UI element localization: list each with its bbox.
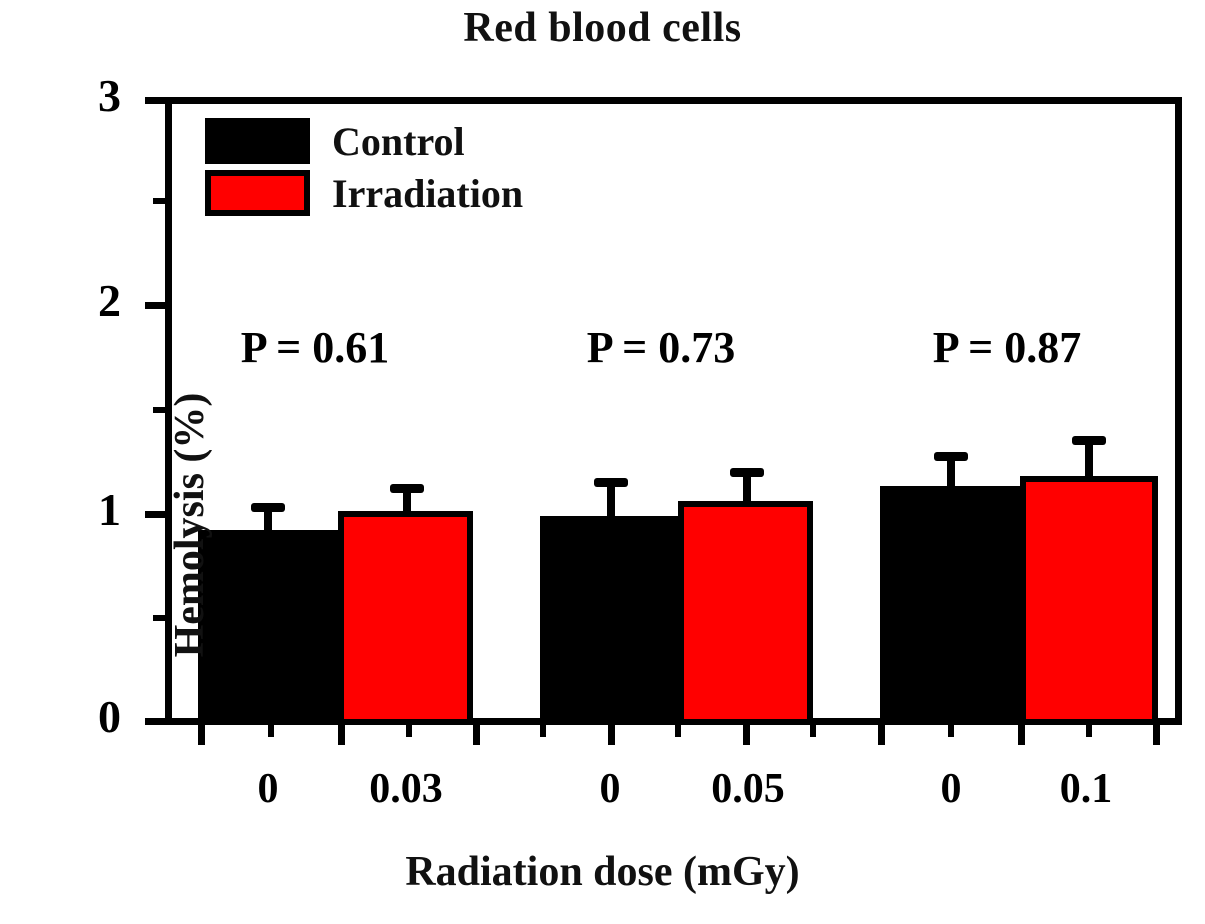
ytick-major-2: 2 [145, 302, 165, 309]
xtick-major-7 [1018, 725, 1025, 745]
xtick-minor-7 [1086, 725, 1092, 737]
chart-legend: Control Irradiation [205, 115, 523, 219]
xtick-label-0_03: 0.03 [369, 765, 443, 813]
xtick-label-0_05: 0.05 [711, 765, 785, 813]
bar-control-0[interactable] [198, 530, 338, 725]
errorbar-irradiation-0_05 [727, 468, 767, 501]
xtick-minor-1 [268, 725, 274, 737]
bar-irradiation-0_05[interactable] [678, 501, 813, 725]
xtick-major-3 [473, 725, 480, 745]
ytick-label-3: 3 [98, 73, 121, 119]
xtick-minor-2 [406, 725, 412, 737]
ytick-minor-1_5 [153, 407, 165, 413]
xtick-minor-6 [948, 725, 954, 737]
xtick-minor-5 [810, 725, 816, 737]
ytick-major-1: 1 [145, 511, 165, 518]
plot-area: 3 2 1 0 [165, 97, 1182, 725]
ytick-minor-2_5 [153, 198, 165, 204]
y-axis-title: Hemolysis (%) [166, 295, 214, 755]
xtick-label-0_1: 0.1 [1060, 765, 1113, 813]
errorbar-control-0-3 [931, 452, 971, 486]
annotation-pvalue-0_05: P = 0.73 [587, 322, 736, 373]
legend-item-irradiation[interactable]: Irradiation [205, 167, 523, 219]
xtick-label-0-a: 0 [258, 765, 279, 813]
errorbar-control-0-2 [591, 478, 631, 516]
xtick-major-6 [878, 725, 885, 745]
ytick-label-1: 1 [98, 487, 121, 533]
xtick-major-2 [338, 725, 345, 745]
xtick-label-0-b: 0 [600, 765, 621, 813]
chart-figure: Red blood cells 3 2 1 0 [0, 0, 1205, 924]
xtick-label-0-c: 0 [941, 765, 962, 813]
errorbar-irradiation-0_03 [387, 484, 427, 511]
annotation-pvalue-0_03: P = 0.61 [241, 322, 390, 373]
xtick-major-4 [608, 725, 615, 745]
xtick-major-8 [1153, 725, 1160, 745]
bar-irradiation-0_03[interactable] [338, 511, 473, 725]
bar-control-0-3[interactable] [880, 486, 1020, 725]
ytick-major-0: 0 [145, 718, 165, 725]
x-axis-title: Radiation dose (mGy) [0, 848, 1205, 896]
ytick-label-2: 2 [98, 278, 121, 324]
errorbar-control-0 [248, 503, 288, 530]
bar-control-0-2[interactable] [540, 516, 678, 725]
legend-label-irradiation: Irradiation [332, 170, 523, 217]
ytick-label-0: 0 [98, 694, 121, 740]
legend-swatch-irradiation-icon [205, 170, 310, 216]
xtick-minor-3 [540, 725, 546, 737]
ytick-major-3: 3 [145, 97, 165, 104]
chart-title: Red blood cells [0, 4, 1205, 52]
ytick-minor-0_5 [153, 615, 165, 621]
xtick-major-5 [743, 725, 750, 745]
legend-label-control: Control [332, 118, 465, 165]
xtick-minor-4 [675, 725, 681, 737]
legend-swatch-control-icon [205, 118, 310, 164]
bar-irradiation-0_1[interactable] [1020, 476, 1158, 725]
annotation-pvalue-0_1: P = 0.87 [933, 322, 1082, 373]
errorbar-irradiation-0_1 [1069, 436, 1109, 476]
legend-item-control[interactable]: Control [205, 115, 523, 167]
